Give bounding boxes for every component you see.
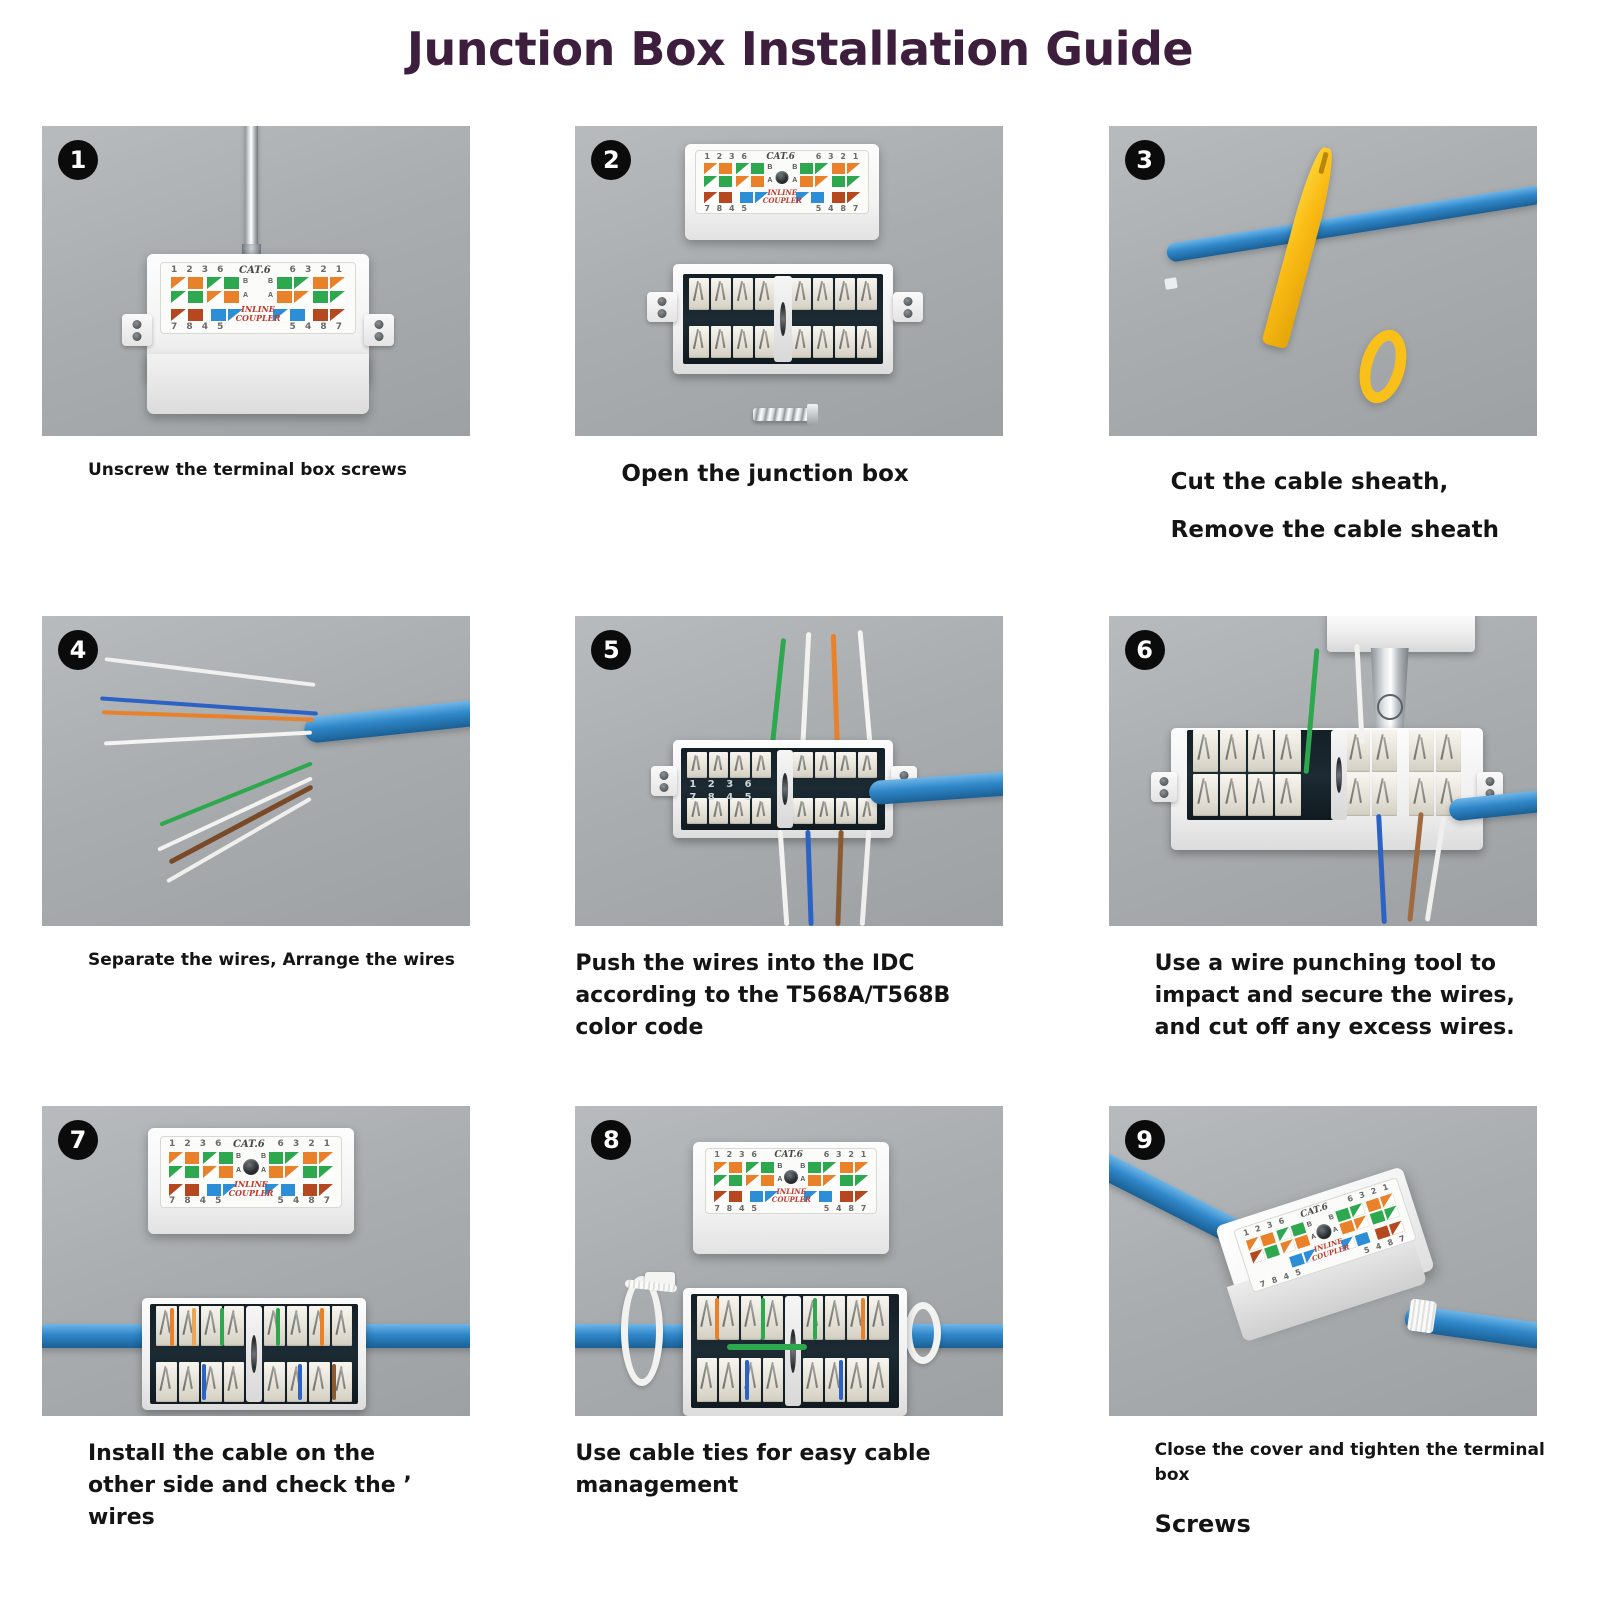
caption-line: Open the junction box <box>621 458 1024 491</box>
wire-orange <box>831 634 840 756</box>
wire-blue-down <box>806 830 814 926</box>
swatch-r-c4 <box>847 192 860 203</box>
cable-tie-right <box>905 1302 941 1364</box>
swatch-r-c3 <box>303 1184 317 1196</box>
step-badge-3: 3 <box>1125 140 1165 180</box>
step-photo-6: 6 <box>1109 616 1537 926</box>
cover-screw-hole <box>784 1170 798 1184</box>
label-row-b-right: B <box>1328 1214 1335 1222</box>
idc-slot <box>1275 774 1301 816</box>
step-photo-8: 8 1 2 3 6 CAT.6 6 3 2 1 B A <box>575 1106 1003 1416</box>
label-row-b-right: B <box>792 164 797 171</box>
idc-slot <box>1193 774 1219 816</box>
label-bottom-left-numbers: 7 8 4 5 <box>704 204 749 213</box>
wire-green-loop <box>727 1344 807 1350</box>
label-row-b-left: B <box>236 1153 241 1160</box>
cable-stripper-loop <box>1352 325 1414 409</box>
step-photo-9: 9 1 2 3 6 CAT.6 6 3 2 1 B <box>1109 1106 1537 1416</box>
swatch-l-b4 <box>751 163 764 174</box>
swatch-l-b2 <box>185 1152 199 1164</box>
caption-line: impact and secure the wires, <box>1155 980 1558 1012</box>
idc-slot <box>179 1362 200 1402</box>
screwdriver-shaft <box>245 126 258 250</box>
label-top-left-numbers: 1 2 3 6 <box>169 1139 224 1149</box>
swatch-r-a4 <box>847 176 860 187</box>
step-caption-8: Use cable ties for easy cable management <box>575 1438 1024 1502</box>
swatch-r-c4 <box>855 1191 868 1202</box>
step-cell-3: 3 Cut the cable sheath, Remove the cable… <box>1067 120 1600 610</box>
swatch-l-a2 <box>1264 1244 1280 1258</box>
idc-bank-top-left <box>1193 730 1301 772</box>
step-caption-4: Separate the wires, Arrange the wires <box>42 948 491 973</box>
idc-slot <box>813 278 833 310</box>
wire-brown-white-down <box>860 830 872 926</box>
center-screw-post <box>777 750 793 828</box>
idc-slot <box>1248 730 1274 772</box>
idc-slot <box>719 1296 739 1340</box>
wire-blue-punched <box>202 1364 206 1400</box>
swatch-l-a3 <box>1280 1239 1296 1253</box>
label-row-a-left: A <box>243 292 248 299</box>
swatch-r-a3 <box>832 176 845 187</box>
idc-slot <box>793 752 813 778</box>
label-top-left-numbers: 1 2 3 6 <box>171 265 226 275</box>
swatch-r-a1 <box>1339 1220 1355 1234</box>
step-caption-3: Cut the cable sheath, Remove the cable s… <box>1109 458 1558 555</box>
caption-line: Separate the wires, Arrange the wires <box>88 948 491 973</box>
mount-ear-left <box>647 292 677 322</box>
swatch-l-c2 <box>729 1191 742 1202</box>
label-top-left-numbers: 1 2 3 6 <box>704 152 749 161</box>
idc-slot <box>1436 730 1461 772</box>
label-bottom-left-numbers: 7 8 4 5 <box>169 1196 224 1206</box>
idc-slot <box>836 798 856 824</box>
idc-slot <box>755 326 775 358</box>
idc-slot <box>763 1358 783 1402</box>
caption-line: Use cable ties for easy cable <box>575 1438 1024 1470</box>
swatch-r-a1 <box>800 176 813 187</box>
label-row-b-left: B <box>767 164 772 171</box>
pcb-top-numbers: 1 2 3 6 <box>689 779 755 790</box>
swatch-r-a3 <box>840 1175 853 1186</box>
swatch-l-a1 <box>1250 1249 1266 1263</box>
idc-slot <box>287 1306 308 1346</box>
idc-bank-bottom-left <box>689 326 775 358</box>
idc-slot <box>763 1296 783 1340</box>
label-row-a-left: A <box>767 177 772 184</box>
idc-slot <box>687 752 707 778</box>
center-screw-post <box>774 276 792 362</box>
swatch-r-a2 <box>294 291 309 303</box>
idc-slot <box>869 1296 889 1340</box>
swatch-r-a2 <box>1353 1215 1369 1229</box>
swatch-r-b3 <box>840 1162 853 1173</box>
idc-slot <box>793 798 813 824</box>
idc-slot <box>156 1362 177 1402</box>
steps-grid: 1 1 2 3 6 CAT.6 6 3 2 1 <box>0 120 1600 1590</box>
step-photo-3: 3 <box>1109 126 1537 436</box>
swatch-r-b2 <box>815 163 828 174</box>
swatch-l-c3 <box>740 192 753 203</box>
idc-slot <box>1409 730 1434 772</box>
label-inline-text: INLINE COUPLER <box>763 189 802 205</box>
wire-brown-down <box>836 830 844 926</box>
step-cell-8: 8 1 2 3 6 CAT.6 6 3 2 1 B A <box>533 1100 1066 1590</box>
label-row-a-right: A <box>268 292 273 299</box>
step-photo-1: 1 1 2 3 6 CAT.6 6 3 2 1 <box>42 126 470 436</box>
swatch-l-b3 <box>207 277 222 289</box>
swatch-r-a3 <box>313 291 328 303</box>
screw-head <box>807 404 818 425</box>
swatch-r-a1 <box>808 1175 821 1186</box>
swatch-r-c3 <box>313 309 328 321</box>
idc-slot <box>1275 730 1301 772</box>
pcb-bottom-numbers: 7 8 4 5 <box>689 792 755 803</box>
swatch-l-c3 <box>211 309 226 321</box>
mount-ear-left <box>651 766 677 796</box>
idc-slot <box>1409 774 1434 816</box>
label-coupler-word: COUPLER <box>236 313 281 323</box>
swatch-l-c3 <box>1289 1253 1305 1267</box>
swatch-r-b3 <box>832 163 845 174</box>
label-row-b-left: B <box>243 278 248 285</box>
swatch-r-b1 <box>277 277 292 289</box>
idc-slot <box>825 1296 845 1340</box>
label-row-b-right: B <box>261 1153 266 1160</box>
idc-slot <box>835 278 855 310</box>
idc-slot <box>711 278 731 310</box>
swatch-r-c4 <box>319 1184 333 1196</box>
label-top-right-numbers: 6 3 2 1 <box>824 1150 869 1159</box>
swatch-l-b4 <box>224 277 239 289</box>
label-top-left-numbers: 1 2 3 6 <box>714 1150 759 1159</box>
step-caption-6: Use a wire punching tool to impact and s… <box>1109 948 1558 1044</box>
swatch-l-b2 <box>729 1162 742 1173</box>
swatch-r-a2 <box>823 1175 836 1186</box>
label-row-a-left: A <box>1310 1233 1317 1241</box>
idc-slot <box>287 1362 308 1402</box>
label-coupler-word: COUPLER <box>772 1195 811 1204</box>
swatch-r-b3 <box>313 277 328 289</box>
wire-green-punched <box>761 1298 765 1340</box>
label-row-a-right: A <box>1332 1226 1339 1234</box>
swatch-l-b1 <box>169 1152 183 1164</box>
step-badge-7: 7 <box>58 1120 98 1160</box>
idc-slot <box>847 1358 867 1402</box>
swatch-r-c2 <box>281 1184 295 1196</box>
swatch-r-a4 <box>1384 1205 1400 1219</box>
swatch-l-a2 <box>729 1175 742 1186</box>
step-photo-7: 7 1 2 3 6 CAT.6 6 3 2 1 B A <box>42 1106 470 1416</box>
swatch-l-b2 <box>188 277 203 289</box>
wire-green-punched-2 <box>276 1308 280 1346</box>
step-badge-4: 4 <box>58 630 98 670</box>
mount-ear-right <box>364 314 394 346</box>
swatch-l-c1 <box>714 1191 727 1202</box>
idc-slot <box>836 752 856 778</box>
step-caption-1: Unscrew the terminal box screws <box>42 458 491 483</box>
label-row-a-right: A <box>800 1176 805 1183</box>
idc-slot <box>733 278 753 310</box>
caption-line: Close the cover and tighten the terminal <box>1155 1438 1558 1463</box>
swatch-l-b1 <box>704 163 717 174</box>
step-cell-7: 7 1 2 3 6 CAT.6 6 3 2 1 B A <box>0 1100 533 1590</box>
idc-slot <box>741 1296 761 1340</box>
swatch-r-b4 <box>319 1152 333 1164</box>
idc-slot <box>711 326 731 358</box>
label-row-a-left: A <box>236 1167 241 1174</box>
wire-blue-white <box>105 657 316 687</box>
idc-slot <box>697 1358 717 1402</box>
idc-bank-top-left <box>689 278 775 310</box>
punch-down-tool-body <box>1327 616 1475 652</box>
wire-orange-punched-2 <box>861 1298 865 1340</box>
idc-slot <box>752 752 772 778</box>
swatch-r-a4 <box>319 1166 333 1178</box>
swatch-l-c1 <box>169 1184 183 1196</box>
swatch-r-c2 <box>290 309 305 321</box>
swatch-l-a3 <box>207 291 222 303</box>
step-caption-9: Close the cover and tighten the terminal… <box>1109 1438 1558 1542</box>
swatch-r-c3 <box>832 192 845 203</box>
idc-slot <box>858 752 878 778</box>
swatch-r-b4 <box>330 277 345 289</box>
swatch-l-a2 <box>185 1166 199 1178</box>
label-top-right-numbers: 6 3 2 1 <box>816 152 861 161</box>
idc-slot <box>697 1296 717 1340</box>
step-cell-4: 4 Separate the wires, Arrange the wires <box>0 610 533 1100</box>
wire-brown <box>168 784 313 864</box>
idc-slot <box>224 1306 245 1346</box>
wire-green-white <box>800 632 811 756</box>
swatch-r-b1 <box>808 1162 821 1173</box>
step-badge-6: 6 <box>1125 630 1165 670</box>
idc-slot <box>791 326 811 358</box>
swatch-l-a3 <box>203 1166 217 1178</box>
junction-box-side <box>147 354 369 414</box>
wire-green <box>159 761 313 826</box>
idc-slot <box>835 326 855 358</box>
cable-stripper-tool <box>1261 145 1339 350</box>
swatch-r-c2 <box>819 1191 832 1202</box>
swatch-l-a2 <box>719 176 732 187</box>
label-row-a-left: A <box>777 1176 782 1183</box>
swatch-l-c1 <box>171 309 186 321</box>
swatch-l-a1 <box>714 1175 727 1186</box>
idc-bank-top-left <box>687 752 771 778</box>
caption-line: and cut off any excess wires. <box>1155 1012 1558 1044</box>
caption-line: Remove the cable sheath <box>1171 506 1558 554</box>
swatch-l-c2 <box>719 192 732 203</box>
idc-slot <box>264 1306 285 1346</box>
caption-line: wires <box>88 1502 491 1534</box>
swatch-l-c1 <box>704 192 717 203</box>
wire-white-down <box>778 830 790 926</box>
caption-line: other side and check the ’ <box>88 1470 491 1502</box>
idc-slot <box>733 326 753 358</box>
label-row-b-right: B <box>800 1163 805 1170</box>
label-row-b-left: B <box>1306 1221 1313 1229</box>
idc-slot <box>309 1362 330 1402</box>
wire-orange-white-punched <box>192 1308 196 1346</box>
center-screw-post <box>785 1296 801 1406</box>
wire-orange-white <box>858 630 874 756</box>
idc-slot <box>1248 774 1274 816</box>
label-row-b-right: B <box>268 278 273 285</box>
swatch-r-a3 <box>303 1166 317 1178</box>
idc-bank-top-left <box>697 1296 783 1340</box>
color-code-label-cover: 1 2 3 6 CAT.6 6 3 2 1 B A B <box>695 150 869 214</box>
idc-slot <box>869 1358 889 1402</box>
swatch-l-b4 <box>219 1152 233 1164</box>
wire-blue-punched <box>745 1360 749 1400</box>
label-inline-text: INLINE COUPLER <box>772 1188 811 1204</box>
idc-slot <box>1372 730 1397 772</box>
swatch-r-a1 <box>269 1166 283 1178</box>
swatch-l-a3 <box>746 1175 759 1186</box>
swatch-l-a3 <box>736 176 749 187</box>
caption-line: Push the wires into the IDC <box>575 948 1024 980</box>
idc-slot <box>1372 774 1397 816</box>
caption-line: Install the cable on the <box>88 1438 491 1470</box>
wire-orange-white <box>104 731 312 746</box>
idc-slot <box>815 752 835 778</box>
idc-bank-far-right <box>1409 730 1461 772</box>
step-photo-5: 5 <box>575 616 1003 926</box>
idc-slot <box>201 1306 222 1346</box>
idc-slot <box>755 278 775 310</box>
caption-line: Unscrew the terminal box screws <box>88 458 491 483</box>
label-bottom-right-numbers: 5 4 8 7 <box>278 1196 333 1206</box>
caption-line: according to the T568A/T568B <box>575 980 1024 1012</box>
label-bottom-right-numbers: 5 4 8 7 <box>816 204 861 213</box>
swatch-r-b2 <box>285 1152 299 1164</box>
step-photo-4: 4 <box>42 616 470 926</box>
color-code-label-cover: 1 2 3 6 CAT.6 6 3 2 1 B A B <box>160 1136 342 1208</box>
label-row-a-right: A <box>261 1167 266 1174</box>
swatch-r-c3 <box>840 1191 853 1202</box>
idc-slot <box>803 1358 823 1402</box>
swatch-r-c4 <box>330 309 345 321</box>
swatch-l-b3 <box>746 1162 759 1173</box>
step-badge-1: 1 <box>58 140 98 180</box>
wire-brown-punched <box>332 1364 336 1400</box>
caption-line: box <box>1155 1463 1558 1488</box>
step-badge-8: 8 <box>591 1120 631 1160</box>
mount-ear-left <box>1151 772 1177 802</box>
idc-bank-bottom-left <box>156 1362 244 1402</box>
step-caption-5: Push the wires into the IDC according to… <box>575 948 1024 1044</box>
step-badge-5: 5 <box>591 630 631 670</box>
idc-slot <box>730 752 750 778</box>
mount-ear-left <box>122 314 152 346</box>
label-cat6: CAT.6 <box>233 1139 265 1150</box>
blue-cable-jacket <box>303 698 470 744</box>
swatch-r-a4 <box>855 1175 868 1186</box>
swatch-r-a4 <box>330 291 345 303</box>
color-code-label-cover: 1 2 3 6 CAT.6 6 3 2 1 B A B <box>705 1148 877 1214</box>
wire-blue-punched-2 <box>839 1360 843 1400</box>
idc-bank-top-right <box>793 752 877 778</box>
idc-slot <box>719 1358 739 1402</box>
swatch-r-a3 <box>1369 1210 1385 1224</box>
swatch-r-b4 <box>847 163 860 174</box>
swatch-r-c2 <box>811 192 824 203</box>
caption-screws: Screws <box>1155 1507 1558 1542</box>
idc-slot <box>741 1358 761 1402</box>
label-coupler-word: COUPLER <box>763 196 802 205</box>
swatch-l-a2 <box>188 291 203 303</box>
label-cat6: CAT.6 <box>766 152 795 162</box>
idc-slot <box>813 326 833 358</box>
idc-bank-bottom-left <box>1193 774 1301 816</box>
step-badge-2: 2 <box>591 140 631 180</box>
caption-line: Use a wire punching tool to <box>1155 948 1558 980</box>
cover-screw-hole <box>776 171 789 184</box>
step-caption-7: Install the cable on the other side and … <box>42 1438 491 1534</box>
step-cell-5: 5 <box>533 610 1066 1100</box>
wire-blue-punched-2 <box>298 1364 302 1400</box>
idc-bank-top-right <box>791 278 877 310</box>
blue-cable <box>1165 185 1536 263</box>
caption-line: management <box>575 1470 1024 1502</box>
swatch-r-b1 <box>269 1152 283 1164</box>
swatch-r-b3 <box>303 1152 317 1164</box>
idc-bank-bottom-right <box>264 1362 352 1402</box>
swatch-r-a2 <box>815 176 828 187</box>
center-screw-post <box>1331 730 1347 820</box>
swatch-l-b4 <box>761 1162 774 1173</box>
swatch-l-a1 <box>169 1166 183 1178</box>
swatch-l-a1 <box>171 291 186 303</box>
step-cell-9: 9 1 2 3 6 CAT.6 6 3 2 1 B <box>1067 1100 1600 1590</box>
idc-slot <box>332 1306 353 1346</box>
swatch-l-b1 <box>714 1162 727 1173</box>
step-cell-1: 1 1 2 3 6 CAT.6 6 3 2 1 <box>0 120 533 610</box>
idc-bank-right-bottom <box>1345 774 1397 816</box>
swatch-l-c3 <box>207 1184 221 1196</box>
label-bottom-left-numbers: 7 8 4 5 <box>714 1204 759 1213</box>
terminal-screw <box>753 408 811 421</box>
idc-slot <box>1220 730 1246 772</box>
swatch-l-a4 <box>751 176 764 187</box>
wire-green <box>769 638 786 756</box>
swatch-l-b1 <box>171 277 186 289</box>
idc-slot <box>1220 774 1246 816</box>
wire-green-punched <box>220 1308 224 1346</box>
swatch-r-b2 <box>823 1162 836 1173</box>
idc-slot <box>1193 730 1219 772</box>
label-bottom-left-numbers: 7 8 4 5 <box>171 322 226 332</box>
label-cat6: CAT.6 <box>239 265 271 276</box>
idc-slot <box>224 1362 245 1402</box>
cable-tie-band-right <box>1407 1298 1437 1333</box>
idc-bank-bottom-right <box>803 1358 889 1402</box>
installation-guide-page: Junction Box Installation Guide 1 <box>0 0 1600 1600</box>
step-cell-6: 6 <box>1067 610 1600 1100</box>
idc-slot <box>1345 730 1370 772</box>
mount-ear-right <box>893 292 923 322</box>
label-inline-text: INLINE COUPLER <box>229 1180 274 1198</box>
swatch-l-b3 <box>736 163 749 174</box>
step-photo-2: 2 1 2 3 6 CAT.6 6 3 2 1 B A <box>575 126 1003 436</box>
idc-bank-bottom-right <box>791 326 877 358</box>
label-inline-text: INLINE COUPLER <box>236 305 281 323</box>
idc-slot <box>1345 774 1370 816</box>
step-caption-2: Open the junction box <box>575 458 1024 491</box>
swatch-r-b4 <box>855 1162 868 1173</box>
label-top-right-numbers: 6 3 2 1 <box>278 1139 333 1149</box>
